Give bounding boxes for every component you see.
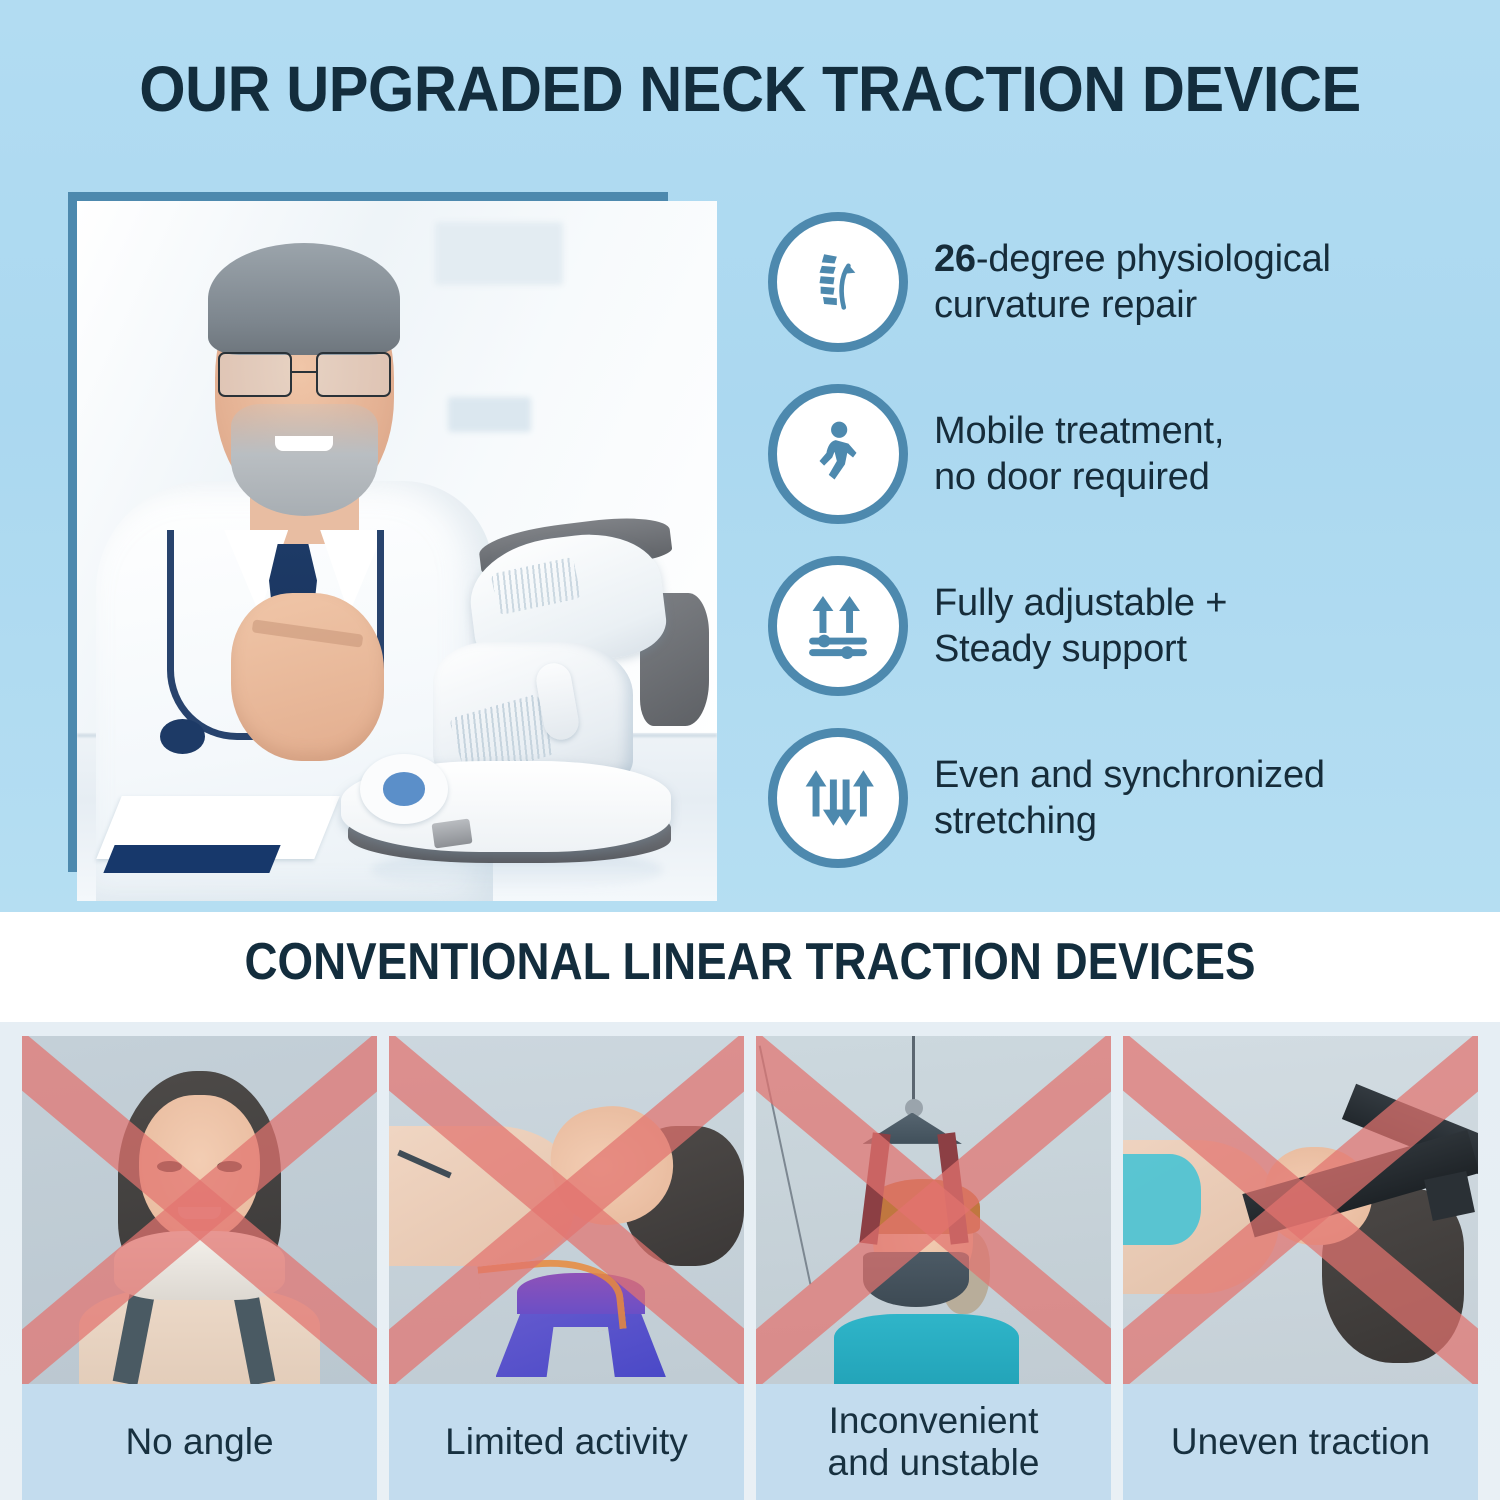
comparison-card: Inconvenient and unstable xyxy=(756,1036,1111,1500)
feature-body: Fully adjustable + Steady support xyxy=(934,582,1227,670)
comparison-card: Limited activity xyxy=(389,1036,744,1500)
orange-arrow xyxy=(478,1252,627,1343)
device-pressure-dial xyxy=(360,754,448,824)
walking-person-icon xyxy=(768,384,908,524)
feature-text: Fully adjustable + Steady support xyxy=(934,580,1227,673)
section-title: CONVENTIONAL LINEAR TRACTION DEVICES xyxy=(90,932,1410,992)
comparison-caption: No angle xyxy=(22,1384,377,1500)
adjustable-support-icon xyxy=(768,556,908,696)
feature-body: -degree physiological curvature repair xyxy=(934,238,1331,326)
feature-item: 26-degree physiological curvature repair xyxy=(768,196,1468,368)
feature-text: 26-degree physiological curvature repair xyxy=(934,236,1468,329)
doctor-beard xyxy=(231,404,378,516)
feature-item: Fully adjustable + Steady support xyxy=(768,540,1468,712)
comparison-photo xyxy=(1123,1036,1478,1384)
woman-top xyxy=(1123,1154,1201,1244)
section-divider-band: CONVENTIONAL LINEAR TRACTION DEVICES xyxy=(0,912,1500,1022)
comparison-caption: Inconvenient and unstable xyxy=(756,1384,1111,1500)
woman-smile xyxy=(178,1207,221,1219)
comparison-caption: Uneven traction xyxy=(1123,1384,1478,1500)
chin-harness xyxy=(863,1252,970,1308)
product-photo xyxy=(77,201,717,901)
spine-curvature-icon xyxy=(768,212,908,352)
side-cord xyxy=(759,1045,812,1284)
woman-scrub-top xyxy=(834,1314,1019,1384)
wall-cabinet xyxy=(435,222,563,285)
upgraded-device-section: OUR UPGRADED NECK TRACTION DEVICE xyxy=(0,0,1500,912)
product-photo-frame xyxy=(68,192,668,872)
feature-highlight: 26 xyxy=(934,238,976,280)
comparison-card: No angle xyxy=(22,1036,377,1500)
stethoscope-bell xyxy=(160,719,205,754)
feature-body: Mobile treatment, no door required xyxy=(934,410,1224,498)
synchronized-stretch-icon xyxy=(768,728,908,868)
doctor-eyeglasses xyxy=(218,352,391,398)
neck-traction-device xyxy=(333,516,717,866)
suspension-cord xyxy=(912,1036,915,1106)
feature-text: Even and synchronized stretching xyxy=(934,752,1325,845)
wall-cabinet-2 xyxy=(448,397,531,432)
doctor-smile xyxy=(275,436,333,451)
feature-list: 26-degree physiological curvature repair… xyxy=(768,196,1468,884)
desk-folder xyxy=(103,845,281,873)
feature-body: Even and synchronized stretching xyxy=(934,754,1325,842)
device-inflation-knob xyxy=(431,818,472,848)
feature-item: Even and synchronized stretching xyxy=(768,712,1468,884)
comparison-photo xyxy=(756,1036,1111,1384)
comparison-caption: Limited activity xyxy=(389,1384,744,1500)
comparison-photo xyxy=(389,1036,744,1384)
comparison-photo xyxy=(22,1036,377,1384)
woman-torso xyxy=(389,1126,574,1265)
page-title: OUR UPGRADED NECK TRACTION DEVICE xyxy=(53,52,1448,126)
strap-buckle xyxy=(1424,1171,1474,1221)
foam-cervical-collar xyxy=(114,1231,284,1301)
comparison-card: Uneven traction xyxy=(1123,1036,1478,1500)
feature-item: Mobile treatment, no door required xyxy=(768,368,1468,540)
doctor-hair xyxy=(208,243,400,355)
conventional-devices-section: No angle Limited activity xyxy=(0,1022,1500,1500)
feature-text: Mobile treatment, no door required xyxy=(934,408,1224,501)
